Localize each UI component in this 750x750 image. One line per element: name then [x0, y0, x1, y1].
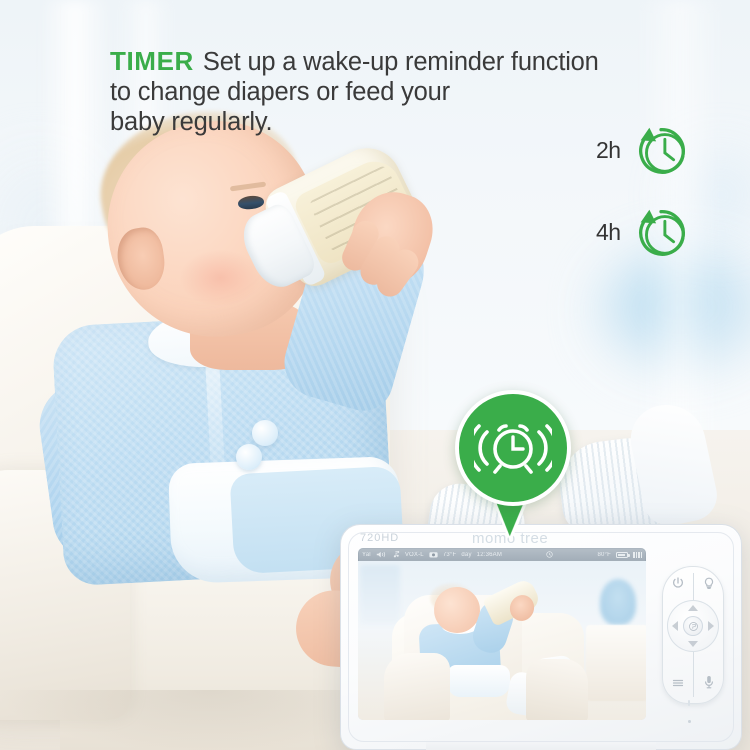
promo-image-stage: TIMERSet up a wake-up reminder function …	[0, 0, 750, 750]
camera-icon	[429, 551, 438, 558]
mini-baby-diaper	[448, 665, 510, 697]
monitor-sensor-dot	[688, 720, 691, 723]
timer-badge-4h-label: 4h	[596, 219, 621, 246]
baby-monitor-device: 720HD momo tree Yal VOX-L 73°F day 12:36…	[340, 524, 742, 750]
status-temp-label: 73°F	[443, 552, 457, 558]
timer-badge-2h: 2h	[596, 126, 688, 182]
caret-left-icon[interactable]	[672, 621, 678, 631]
sweater-pompom	[252, 420, 278, 446]
mini-armchair-arm-right	[526, 659, 588, 720]
status-room-temp-label: 80°F	[597, 552, 611, 558]
lullaby-icon	[688, 621, 699, 632]
signal-bars-icon	[633, 552, 642, 558]
clock-rotate-icon	[630, 120, 692, 182]
lamp-icon[interactable]	[702, 576, 716, 590]
mini-teddy-bear	[600, 579, 636, 625]
screen-live-view	[358, 561, 646, 720]
mini-armchair-arm	[384, 653, 450, 720]
sweater-pompom-2	[236, 444, 262, 470]
status-signal-label: Yal	[362, 552, 371, 558]
microphone-icon[interactable]	[702, 674, 716, 690]
status-day-label: day	[461, 552, 471, 558]
headline-line-3: baby regularly.	[110, 107, 670, 137]
caret-right-icon[interactable]	[708, 621, 714, 631]
headline-line-2: to change diapers or feed your	[110, 77, 670, 107]
hamburger-icon[interactable]	[671, 676, 685, 690]
headline-line-1: TIMERSet up a wake-up reminder function	[110, 46, 670, 77]
caret-down-icon[interactable]	[688, 641, 698, 647]
clock-rotate-icon-2	[630, 202, 692, 264]
alarm-clock-icon	[474, 412, 552, 484]
dpad-control[interactable]	[667, 600, 719, 652]
baby-cheek	[180, 250, 260, 306]
monitor-screen[interactable]: Yal VOX-L 73°F day 12:36AM	[358, 548, 646, 720]
screen-status-bar: Yal VOX-L 73°F day 12:36AM	[358, 548, 646, 561]
mini-window	[360, 565, 400, 625]
headline-block: TIMERSet up a wake-up reminder function …	[110, 46, 670, 137]
timer-badge-4h: 4h	[596, 208, 688, 264]
alarm-speech-bubble	[455, 390, 571, 506]
power-icon[interactable]	[671, 576, 685, 590]
monitor-resolution-label: 720HD	[360, 532, 399, 544]
monitor-control-panel	[662, 566, 724, 704]
status-vox-label: VOX-L	[405, 552, 424, 558]
headline-text-1: Set up a wake-up reminder function	[203, 48, 599, 76]
timer-icon	[546, 551, 553, 558]
mini-dresser	[586, 625, 646, 701]
monitor-stand	[426, 742, 656, 750]
caret-up-icon[interactable]	[688, 605, 698, 611]
monitor-led-indicator	[688, 700, 690, 706]
battery-icon	[616, 552, 628, 558]
volume-icon	[376, 551, 387, 558]
headline-keyword: TIMER	[110, 46, 194, 76]
music-note-icon	[392, 551, 400, 558]
status-time-label: 12:36AM	[477, 552, 502, 558]
timer-badge-2h-label: 2h	[596, 137, 621, 164]
dpad-center-button[interactable]	[683, 616, 703, 636]
